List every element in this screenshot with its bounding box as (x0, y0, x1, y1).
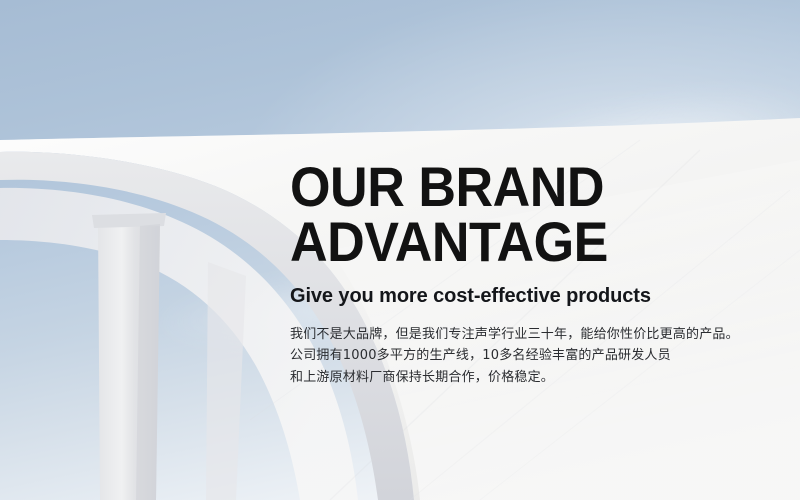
body-line-1: 我们不是大品牌，但是我们专注声学行业三十年，能给你性价比更高的产品。 (290, 324, 760, 346)
body-line-3: 和上游原材料厂商保持长期合作，价格稳定。 (290, 367, 760, 389)
body-copy: 我们不是大品牌，但是我们专注声学行业三十年，能给你性价比更高的产品。 公司拥有1… (290, 324, 760, 389)
body-line-2: 公司拥有1000多平方的生产线，10多名经验丰富的产品研发人员 (290, 345, 760, 367)
brand-advantage-banner: OUR BRAND ADVANTAGE Give you more cost-e… (0, 0, 800, 500)
secondary-column (206, 262, 246, 500)
banner-text-block: OUR BRAND ADVANTAGE Give you more cost-e… (290, 160, 760, 388)
subtitle: Give you more cost-effective products (290, 284, 760, 308)
column-shading (136, 224, 160, 500)
page-title: OUR BRAND ADVANTAGE (290, 160, 727, 270)
